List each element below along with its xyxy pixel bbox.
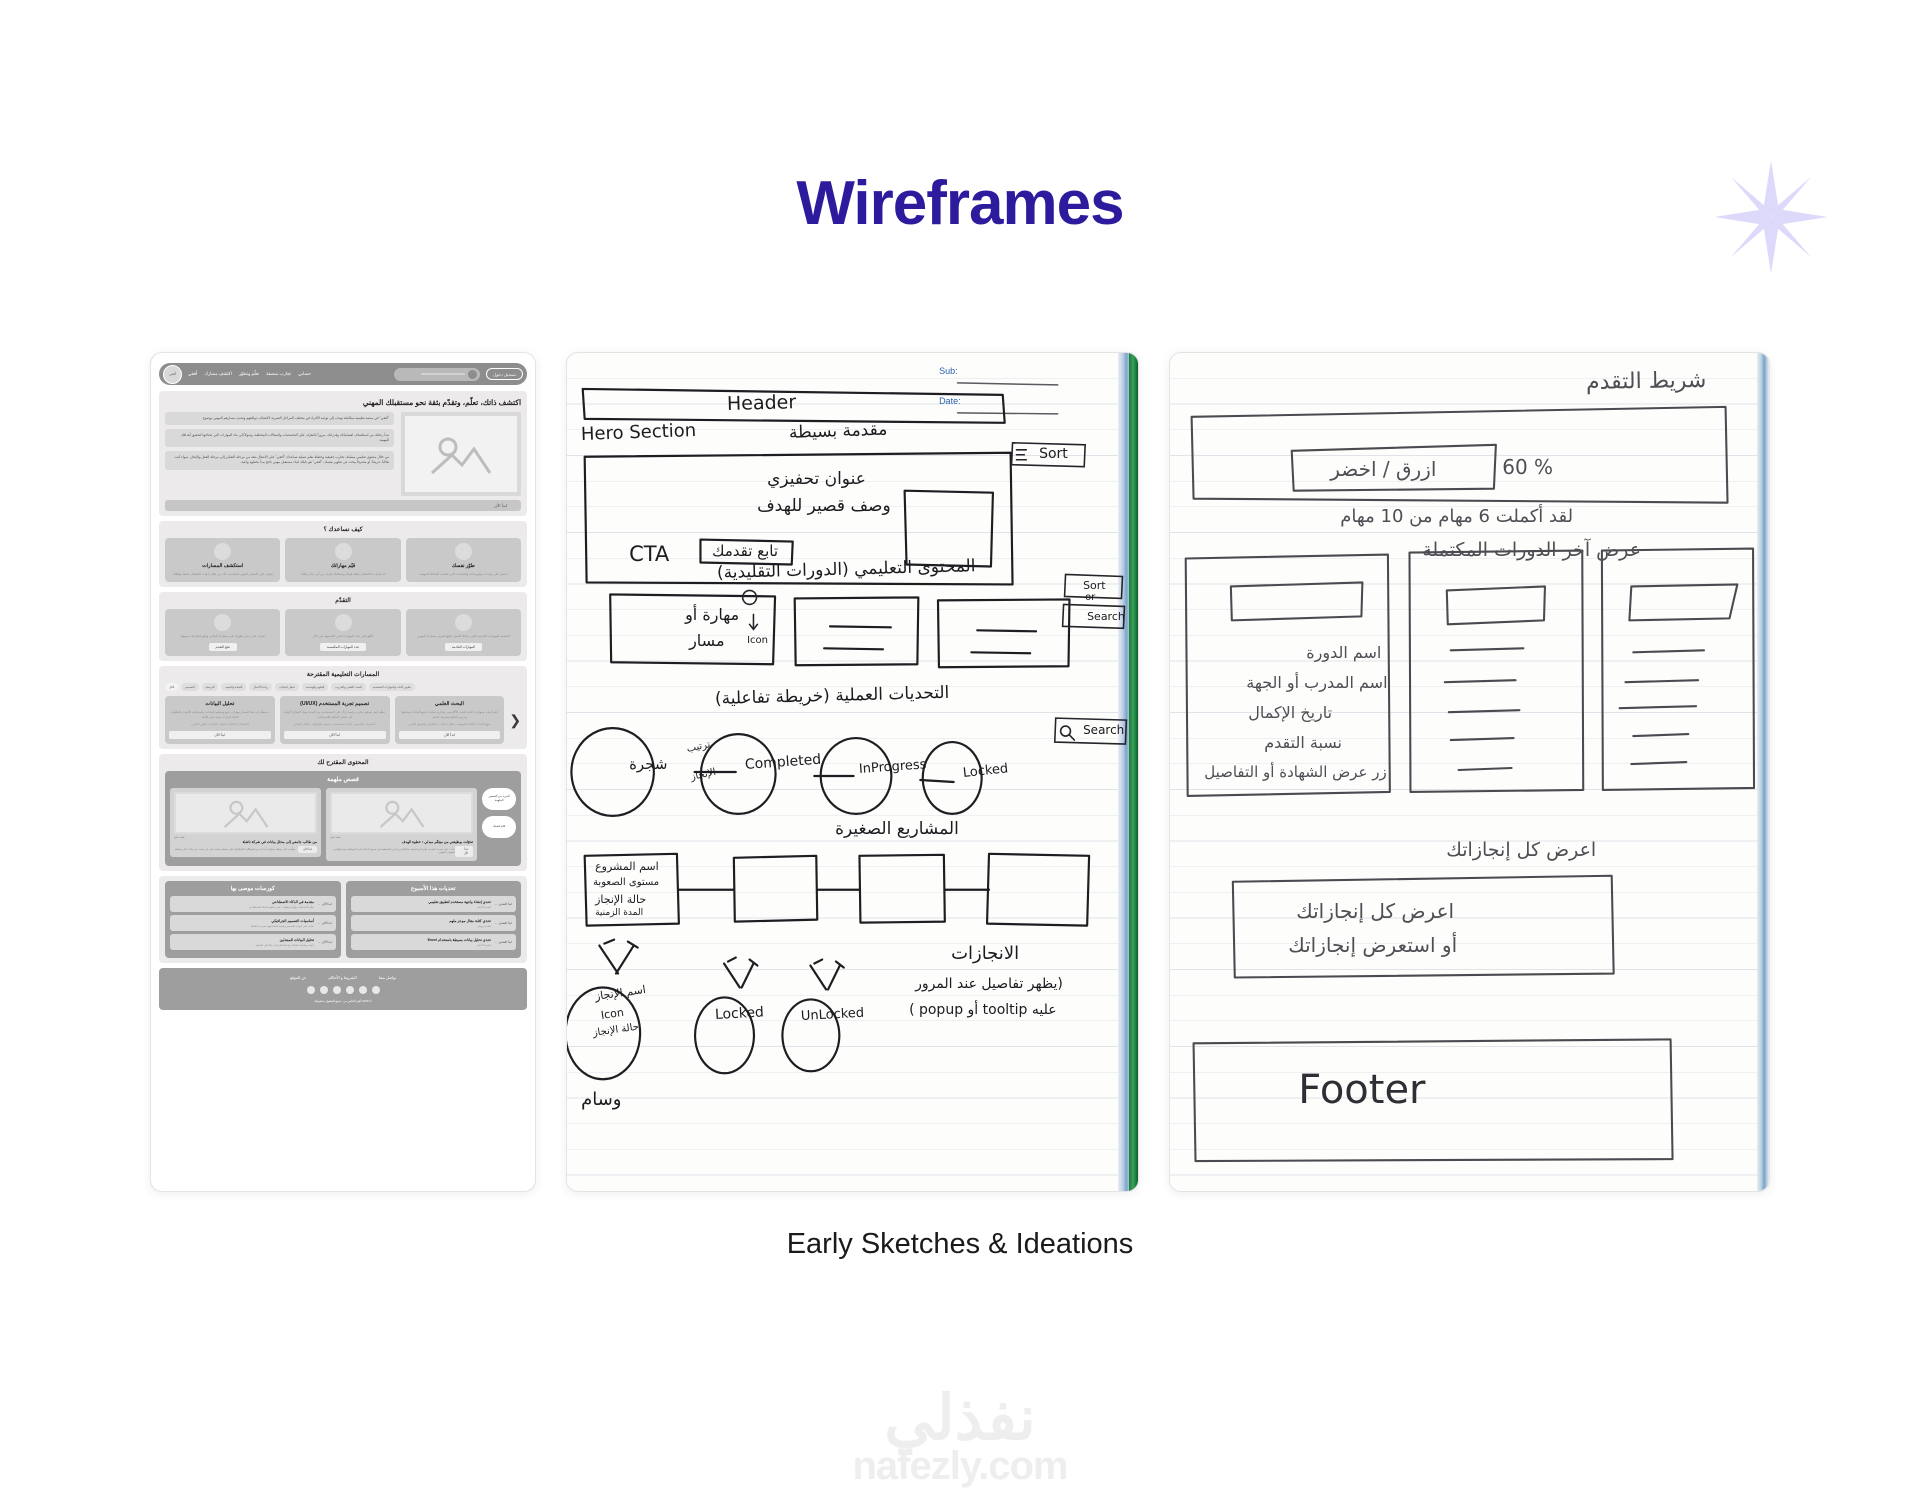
mock-progress-section: التقدّم اكتشف المهارات الجديدة التي يمكن… <box>159 592 527 662</box>
path-chip[interactable]: التصميم <box>181 683 198 691</box>
path-card[interactable]: تحليل البيانات ستتعلّم في هذا المسار مها… <box>165 696 275 744</box>
help-card-title: استكشف المسارات <box>202 563 243 569</box>
footer-link-terms[interactable]: الشروط و الأحكام <box>328 975 356 980</box>
path-card[interactable]: البحث العلمي أهم أدوات ومهارات كتابة الب… <box>395 696 505 744</box>
annotation-progress-color-note: ازرق / اخضر <box>1330 459 1436 480</box>
sketch-page-1-panel[interactable]: Sub: Date: <box>566 352 1139 1192</box>
challenge-link[interactable]: ابدأ التحدي ← <box>495 902 512 906</box>
course-sub: تعرّف على أدوات التصميم وكيفية إنشاء هوي… <box>251 925 314 928</box>
story-body: تعلّمت على منصّة متنوّعة أبدعت من المطال… <box>174 848 295 852</box>
path-chip[interactable]: تحليل البيانات <box>275 683 299 691</box>
challenges-title: تحديات هذا الأسبوع <box>351 886 517 892</box>
footer-copyright: © 2025 أفق الخاص بي. جميع الحقوق محفوظة <box>164 999 522 1003</box>
annotation-achievements-note-2: عليه tooltip أو popup ) <box>909 1003 1057 1018</box>
social-icon[interactable] <box>320 986 328 994</box>
nav-link-learn[interactable]: تعلّم وتطوّر <box>239 371 259 377</box>
mock-paths-section: المسارات التعليمية المقترحة تطوير الذات … <box>159 666 527 749</box>
submit-story-button[interactable]: قدّم قصتك <box>482 816 516 838</box>
search-icon <box>468 370 477 379</box>
path-card-title: تصميم تجربة المستخدم (UI/UX) <box>284 701 386 707</box>
annotation-project-status: حالة الإنجاز <box>595 894 646 906</box>
annotation-course-progress: نسبة التقدم <box>1264 735 1342 752</box>
carousel-prev-icon[interactable]: ❮ <box>509 712 521 729</box>
watermark-arabic-text: نفذلي <box>0 1388 1920 1450</box>
course-title: تحليل البيانات للمبتدئين <box>280 938 314 942</box>
annotation-achievements-box-1: اعرض كل إنجازاتك <box>1296 901 1454 922</box>
hero-heading: اكتشف ذاتك، تعلّم، وتقدّم بثقة نحو مستقب… <box>165 398 521 407</box>
sparkle-star-icon <box>1712 158 1830 276</box>
annotation-header: Header <box>727 393 797 415</box>
annotation-search-tag-1: Search <box>1087 611 1125 623</box>
courses-column: كورسات موصى بها ابدأ الآن ← مقدمة في الذ… <box>165 881 341 958</box>
challenge-item[interactable]: ابدأ التحدي ← تحدي كتابة مقال موجز ملهم … <box>351 915 517 931</box>
path-card[interactable]: تصميم تجربة المستخدم (UI/UX) تتعلّم كيف … <box>280 696 390 744</box>
mock-search-input[interactable] <box>394 368 480 381</box>
watermark: نفذلي nafezly.com <box>0 1388 1920 1489</box>
path-card-meta: منهج البحث • الكتابة المنهجية • تحليل ال… <box>399 722 501 726</box>
progress-card[interactable]: اكتشف المهارات الجديدة التي يمكنك العمل … <box>406 609 521 657</box>
path-card-button[interactable]: ابدأ الآن <box>284 731 386 739</box>
annotation-or-note: or <box>1085 593 1095 604</box>
search-placeholder-bar <box>421 373 465 376</box>
course-link[interactable]: ابدأ الآن ← <box>318 940 332 944</box>
brand-logo[interactable]: أفقي <box>163 365 182 384</box>
path-card-body: ستتعلّم في هذا المسار مهارات جمع وتنظيم … <box>169 710 271 719</box>
annotation-hero-headline: عنوان تحفيزي <box>767 471 866 489</box>
story-body: بدأت على تجربة اعتمدت أهم إستراتيجية متك… <box>330 848 455 856</box>
paths-section-title: المسارات التعليمية المقترحة <box>165 671 521 678</box>
challenge-title: تحدي إنشاء واجهة مستخدم لتطبيق تعليمي <box>428 900 491 904</box>
annotation-hero-subtext: وصف قصير للهدف <box>757 498 891 516</box>
challenge-title: تحدي تحليل بيانات بسيطة باستخدام Excel <box>428 938 491 942</box>
help-section-title: كيف نساعدك ؟ <box>165 526 521 533</box>
progress-card-button[interactable]: عدد المهارات المكتسبة <box>320 643 366 651</box>
annotation-course-trainer: اسم المدرب أو الجهة <box>1246 675 1387 692</box>
mock-suggested-section: المحتوى المقترح لك قصص ملهمة المزيد من ا… <box>159 754 527 871</box>
annotation-project-level: مستوى الصعوبة <box>593 878 659 889</box>
paths-filter-chips[interactable]: تطوير الذات والمهارات الشخصية البحث العل… <box>165 683 521 691</box>
course-link[interactable]: ابدأ الآن ← <box>318 902 332 906</box>
hero-paragraph-2: تبدأ رحلتك من استكشاف اهتماماتك وقدراتك،… <box>165 429 394 447</box>
more-stories-button[interactable]: المزيد من القصص الملهمة <box>482 788 516 810</box>
story-title: تحوّلت بوظيفتي من مؤشّر مبدئي • خطوة اله… <box>330 840 473 844</box>
progress-card[interactable]: تعرّف على مدى تطورك في مسارك الحالي وتتب… <box>165 609 280 657</box>
hero-paragraph-1: "أفقي" في منصة تعليمية متكاملة تهدف إلى … <box>165 412 394 425</box>
progress-card-button[interactable]: المهارات القادمة <box>445 643 482 651</box>
suggested-section-title: المحتوى المقترح لك <box>165 759 521 766</box>
course-title: مقدمة في الذكاء الاصطناعي <box>272 900 314 904</box>
challenge-item[interactable]: ابدأ التحدي ← تحدي تحليل بيانات بسيطة با… <box>351 934 517 950</box>
annotation-achievements-section: الانجازات <box>951 945 1019 964</box>
help-card-title: قيّم مهاراتك <box>331 563 356 569</box>
mock-navbar[interactable]: تسجيل دخول حسابي تجارب منصفة تعلّم وتطوّ… <box>159 363 527 385</box>
story-tag: قصة نجاح <box>330 836 473 839</box>
help-card-icon <box>335 543 352 560</box>
challenge-sub: المدة: 3 أيام <box>478 906 491 909</box>
annotation-progress-status: لقد أكملت 6 مهام من 10 مهام <box>1340 508 1573 527</box>
stories-block: قصص ملهمة المزيد من القصص الملهمة قدّم ق… <box>165 771 521 866</box>
gallery-caption: Early Sketches & Ideations <box>0 1228 1920 1261</box>
help-card-icon <box>455 543 472 560</box>
hero-paragraph-3: من خلال محتوى تعليمي مبسّط، تجارب حقيقية… <box>165 451 394 469</box>
story-title: من طالب جامعي إلى محلل بيانات في شركة نا… <box>174 840 317 844</box>
annotation-achievements-box-2: أو استعرض إنجازاتك <box>1288 935 1457 956</box>
annotation-cta-button[interactable]: تابع تقدمك <box>712 544 778 560</box>
footer-link-about[interactable]: عن الموقع <box>290 975 306 980</box>
annotation-badge-unlocked: UnLocked <box>801 1007 865 1024</box>
annotation-sort-tag: Sort <box>1039 447 1068 462</box>
help-card-body: تعرّف على المسار المهني المناسب لك من خل… <box>172 572 273 577</box>
annotation-projects-section: المشاريع الصغيرة <box>835 821 959 839</box>
page-title: Wireframes <box>0 168 1920 239</box>
path-chip[interactable]: القيادة والتنمية <box>221 683 246 691</box>
annotation-course-cert: زر عرض الشهادة أو التفاصيل <box>1204 765 1387 781</box>
mock-nav-links[interactable]: حسابي تجارب منصفة تعلّم وتطوّر اكتشف مسا… <box>188 371 311 377</box>
progress-card-icon <box>455 614 472 631</box>
annotation-project-name: اسم المشروع <box>595 861 659 873</box>
course-item[interactable]: ابدأ الآن ← أساسيات التصميم الجرافيكي تع… <box>170 915 336 931</box>
path-card-body: أهم أدوات ومهارات كتابة البحث الأكاديمي،… <box>399 710 501 719</box>
path-chip-active[interactable]: الكل <box>165 683 178 691</box>
mock-help-section: كيف نساعدك ؟ طوّر نفسك احصل على وحدات وك… <box>159 521 527 587</box>
course-link[interactable]: ابدأ الآن ← <box>318 921 332 925</box>
watermark-latin-text: nafezly.com <box>0 1444 1920 1489</box>
annotation-sort-or: Sort <box>1083 580 1106 592</box>
annotation-footer: Footer <box>1298 1069 1425 1111</box>
nav-link-account[interactable]: حسابي <box>298 371 311 377</box>
wireframe-mockup-panel[interactable]: تسجيل دخول حسابي تجارب منصفة تعلّم وتطوّ… <box>150 352 536 1192</box>
progress-card[interactable]: اطّلع على عدد المهارات التي اكتسبتها حتى… <box>285 609 400 657</box>
social-icon[interactable] <box>359 986 367 994</box>
mock-footer: تواصل معنا الشروط و الأحكام عن الموقع © … <box>159 968 527 1010</box>
help-card[interactable]: طوّر نفسك احصل على وحدات وكورسات والتحدي… <box>406 538 521 582</box>
nav-link-home[interactable]: أفقي <box>188 371 197 377</box>
annotation-project-duration: المدة الزمنية <box>595 909 643 918</box>
challenge-title: تحدي كتابة مقال موجز ملهم <box>449 919 490 923</box>
mock-courses-challenges-section: تحديات هذا الأسبوع ابدأ التحدي ← تحدي إن… <box>159 876 527 963</box>
annotation-course-date: تاريخ الإكمال <box>1248 705 1332 722</box>
annotation-achievements-title: اعرض كل إنجازاتك <box>1446 841 1596 861</box>
path-chip[interactable]: تطوير الذات والمهارات الشخصية <box>369 683 415 691</box>
help-card[interactable]: قيّم مهاراتك خذ قدرات لاكتشاف نقاط قوتك … <box>285 538 400 582</box>
path-chip[interactable]: ريادة الأعمال <box>249 683 272 691</box>
course-sub: أدوات وتقنيات البيانات واتخاذ القرارات ب… <box>255 944 314 947</box>
story-read-button[interactable]: ابدأ الآن <box>455 846 473 857</box>
challenge-sub: المدة: يومان <box>477 925 490 928</box>
mock-login-button[interactable]: تسجيل دخول <box>486 368 523 380</box>
progress-card-body: تعرّف على مدى تطورك في مسارك الحالي وتتب… <box>180 634 265 639</box>
sketch-page-2-panel[interactable]: شريط التقدم 60 % ازرق / اخضر لقد أكملت 6… <box>1169 352 1770 1192</box>
path-chip[interactable]: البرمجة <box>202 683 219 691</box>
annotation-node-tree: شجرة <box>629 757 667 773</box>
progress-card-icon <box>335 614 352 631</box>
annotation-achievements-note-1: (يظهر تفاصيل عند المرور <box>915 977 1063 992</box>
path-card-body: تتعلّم كيف تصمّم تجارب رقمية تركّز على ا… <box>284 710 386 719</box>
annotation-search-tag-2: Search <box>1083 724 1124 737</box>
progress-section-title: التقدّم <box>165 597 521 604</box>
courses-title: كورسات موصى بها <box>170 886 336 892</box>
annotation-progress-percent: 60 % <box>1502 457 1553 478</box>
annotation-progress-bar-title: شريط التقدم <box>1586 369 1707 394</box>
path-chip[interactable]: العلوم والهندسة <box>302 683 328 691</box>
story-image-placeholder <box>174 792 317 834</box>
challenge-item[interactable]: ابدأ التحدي ← تحدي إنشاء واجهة مستخدم لت… <box>351 896 517 912</box>
stories-subtitle: قصص ملهمة <box>170 776 516 783</box>
annotation-intro-note: مقدمة بسيطة <box>789 422 888 443</box>
help-card-body: احصل على وحدات وكورسات والتحديات التي تن… <box>419 572 508 577</box>
hero-cta-button[interactable]: ابدأ الآن <box>165 500 521 511</box>
path-chip[interactable]: البحث العلمي والتدريب <box>331 683 366 691</box>
help-card-icon <box>214 543 231 560</box>
course-sub: تعلّم الأساسيات وأولاً وخطوات على مفاهيم… <box>249 906 314 909</box>
annotation-card-path: مسار <box>689 633 724 650</box>
challenge-link[interactable]: ابدأ التحدي ← <box>495 940 512 944</box>
story-tag: قصة نجاح <box>174 836 317 839</box>
story-card[interactable]: قصة نجاح من طالب جامعي إلى محلل بيانات ف… <box>170 788 321 857</box>
nav-link-discover[interactable]: اكتشف مسارك <box>204 371 232 377</box>
path-card-button[interactable]: ابدأ الآن <box>399 731 501 739</box>
social-icon[interactable] <box>307 986 315 994</box>
course-item[interactable]: ابدأ الآن ← تحليل البيانات للمبتدئين أدو… <box>170 934 336 950</box>
annotation-card-skill: مهارة أو <box>685 607 739 624</box>
challenge-sub: المدة: 4 أيام <box>478 944 491 947</box>
annotation-hero-section: Hero Section <box>581 422 697 445</box>
path-card-title: تحليل البيانات <box>169 701 271 707</box>
annotation-cta-label: CTA <box>629 543 669 565</box>
progress-card-icon <box>214 614 231 631</box>
hero-image-placeholder <box>401 412 521 496</box>
annotation-courses-section: عرض آخر الدورات المكتملة <box>1422 541 1641 561</box>
challenges-column: تحديات هذا الأسبوع ابدأ التحدي ← تحدي إن… <box>346 881 522 958</box>
story-image-placeholder <box>330 792 473 834</box>
help-card-title: طوّر نفسك <box>452 563 475 569</box>
progress-card-body: اطّلع على عدد المهارات التي اكتسبتها حتى… <box>312 634 373 639</box>
annotation-course-name: اسم الدورة <box>1306 645 1381 662</box>
annotation-badge-locked: Locked <box>715 1005 765 1022</box>
nav-link-experiences[interactable]: تجارب منصفة <box>266 371 291 377</box>
wireframe-gallery: تسجيل دخول حسابي تجارب منصفة تعلّم وتطوّ… <box>150 352 1770 1192</box>
progress-card-body: اكتشف المهارات الجديدة التي يمكنك العمل … <box>417 634 510 639</box>
social-icon[interactable] <box>346 986 354 994</box>
mock-hero-section: اكتشف ذاتك، تعلّم، وتقدّم بثقة نحو مستقب… <box>159 391 527 516</box>
course-item[interactable]: ابدأ الآن ← مقدمة في الذكاء الاصطناعي تع… <box>170 896 336 912</box>
progress-card-button[interactable]: تتبّع التقدم <box>209 643 237 651</box>
annotation-icon-note: Icon <box>747 636 768 647</box>
help-card-body: خذ قدرات لاكتشاف نقاط قوتك وتحسّنك تعرّف… <box>300 572 386 577</box>
path-card-title: البحث العلمي <box>399 701 501 707</box>
path-card-meta: أساسيات التصميم • أبحاث المستخدم • تصميم… <box>284 722 386 726</box>
annotation-badge-label: وسام <box>581 1091 621 1110</box>
story-card[interactable]: قصة نجاح تحوّلت بوظيفتي من مؤشّر مبدئي •… <box>326 788 477 861</box>
social-icon[interactable] <box>333 986 341 994</box>
story-read-button[interactable]: ابدأ الآن <box>298 846 317 853</box>
path-card-button[interactable]: ابدأ الآن <box>169 731 271 739</box>
path-card-meta: الإحصاء • Python • تنظيف البيانات • تطوي… <box>169 722 271 726</box>
course-title: أساسيات التصميم الجرافيكي <box>271 919 314 923</box>
social-icon[interactable] <box>372 986 380 994</box>
footer-link-contact[interactable]: تواصل معنا <box>379 975 396 980</box>
help-card[interactable]: استكشف المسارات تعرّف على المسار المهني … <box>165 538 280 582</box>
challenge-link[interactable]: ابدأ التحدي ← <box>495 921 512 925</box>
footer-social-icons[interactable] <box>164 986 522 994</box>
